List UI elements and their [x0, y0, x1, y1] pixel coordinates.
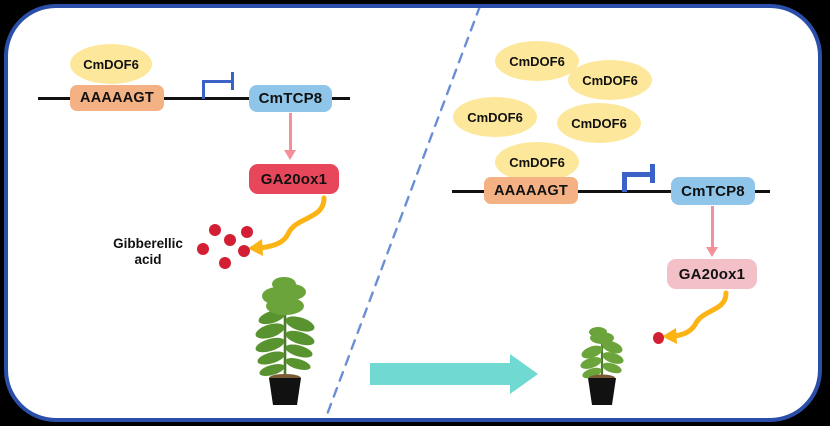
- tcp-box-right[interactable]: CmTCP8: [671, 177, 755, 205]
- dof-oval-label: CmDOF6: [83, 57, 139, 72]
- dof-oval-label: CmDOF6: [571, 116, 627, 131]
- ga20ox1-box-right[interactable]: GA20ox1: [667, 259, 757, 289]
- ga20ox1-box-label: GA20ox1: [261, 171, 327, 188]
- dof-oval-right-3[interactable]: CmDOF6: [453, 97, 537, 137]
- repression-t-bar-icon-left: [202, 72, 240, 99]
- dof-oval-right-1[interactable]: CmDOF6: [495, 41, 579, 81]
- motif-box-left[interactable]: AAAAAGT: [70, 85, 164, 111]
- pink-down-arrow-head-right: [706, 247, 718, 257]
- motif-box-right[interactable]: AAAAAGT: [484, 177, 578, 204]
- gibberellic-acid-label-line1: Gibberellic: [100, 236, 196, 252]
- dof-oval-label: CmDOF6: [582, 73, 638, 88]
- yellow-curved-arrow-icon-right: [648, 289, 748, 351]
- pink-down-arrow-shaft-left: [289, 113, 292, 153]
- gibberellic-acid-label: Gibberellic acid: [100, 236, 196, 268]
- pink-down-arrow-head-left: [284, 150, 296, 160]
- plant-dwarf-right: [578, 318, 626, 406]
- ga-dot: [197, 243, 209, 255]
- motif-box-label: AAAAAGT: [80, 90, 154, 106]
- diagram-panel: CmDOF6 AAAAAGT CmTCP8 GA20ox1: [4, 4, 822, 422]
- dof-oval-label: CmDOF6: [509, 155, 565, 170]
- teal-block-arrow-shaft: [370, 363, 510, 385]
- ga-dot: [209, 224, 221, 236]
- ga-dot: [241, 226, 253, 238]
- ga-dot: [653, 332, 664, 344]
- ga20ox1-box-left[interactable]: GA20ox1: [249, 164, 339, 194]
- ga-dot: [224, 234, 236, 246]
- ga20ox1-box-label: GA20ox1: [679, 266, 745, 283]
- gibberellic-acid-label-line2: acid: [100, 252, 196, 268]
- ga-dot: [219, 257, 231, 269]
- motif-box-label: AAAAAGT: [494, 183, 568, 199]
- dof-oval-right-2[interactable]: CmDOF6: [568, 60, 652, 100]
- tcp-box-label: CmTCP8: [681, 183, 745, 200]
- tcp-box-label: CmTCP8: [259, 90, 323, 107]
- figure-canvas: CmDOF6 AAAAAGT CmTCP8 GA20ox1: [0, 0, 830, 426]
- ga-dot: [238, 245, 250, 257]
- teal-block-arrow-head: [510, 354, 538, 394]
- plant-tall-left: [254, 270, 316, 406]
- tcp-box-left[interactable]: CmTCP8: [249, 85, 332, 112]
- dof-oval-label: CmDOF6: [509, 54, 565, 69]
- dof-oval-right-5[interactable]: CmDOF6: [495, 142, 579, 182]
- repression-t-bar-icon-right: [622, 164, 662, 192]
- pink-down-arrow-shaft-right: [711, 206, 714, 249]
- dof-oval-left-1[interactable]: CmDOF6: [70, 44, 152, 84]
- dof-oval-label: CmDOF6: [467, 110, 523, 125]
- dof-oval-right-4[interactable]: CmDOF6: [557, 103, 641, 143]
